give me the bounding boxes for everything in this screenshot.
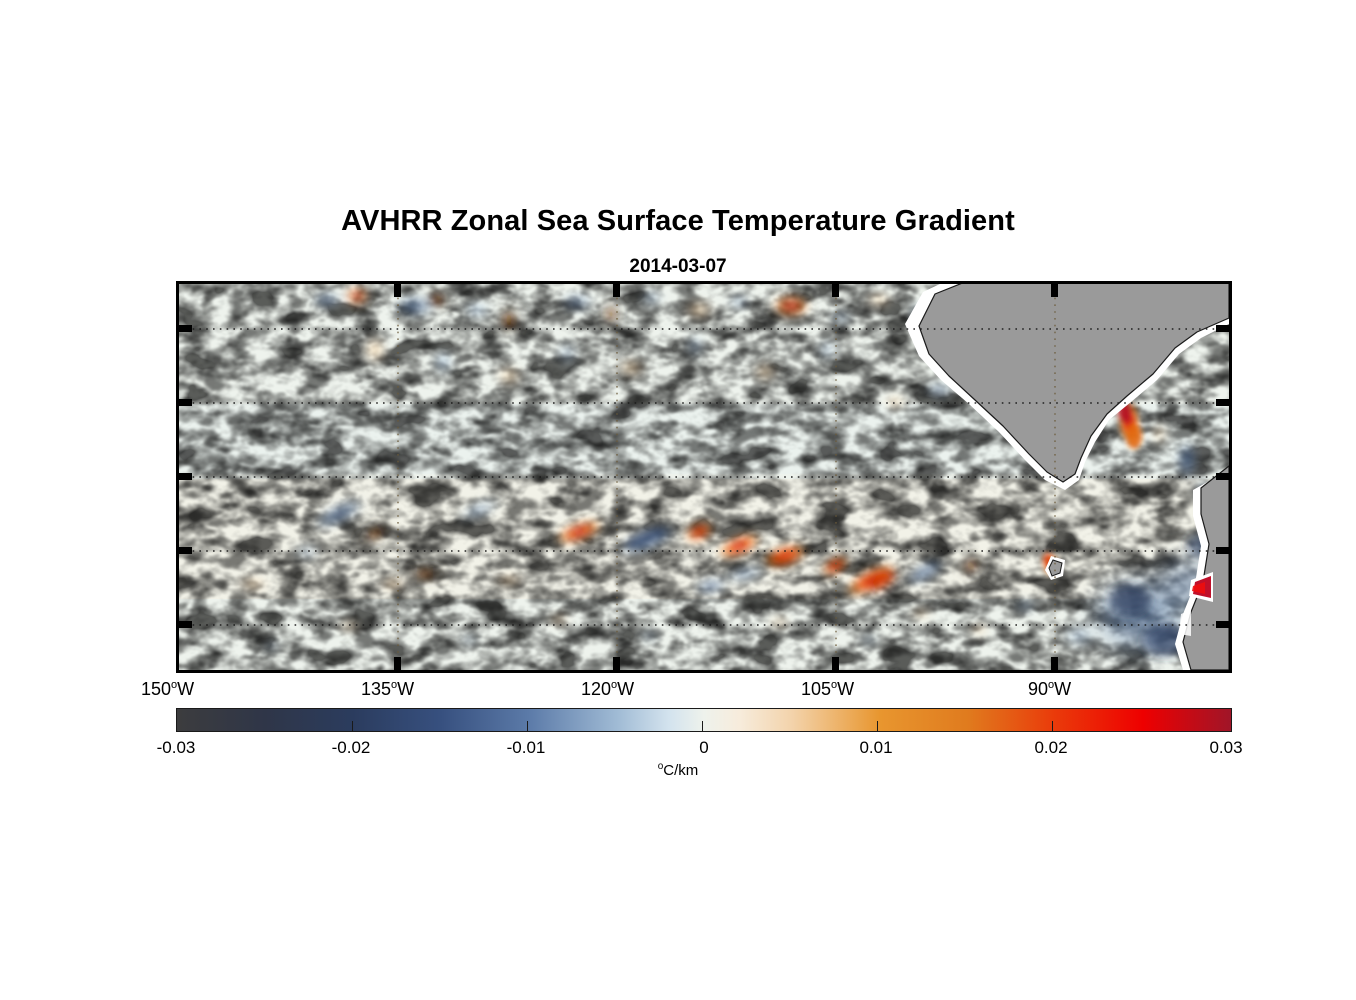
colorbar-label-min: -0.03 xyxy=(126,738,226,758)
figure-subtitle: 2014-03-07 xyxy=(0,256,1356,278)
x-axis-tick-135W: 135oW xyxy=(361,679,414,700)
x-axis-tick-120W: 120oW xyxy=(581,679,634,700)
colorbar-label-p002: 0.02 xyxy=(1001,738,1101,758)
sst-gradient-heatmap xyxy=(179,284,1229,670)
page-title: AVHRR Zonal Sea Surface Temperature Grad… xyxy=(0,205,1356,238)
map-plot-area xyxy=(176,281,1232,673)
colorbar-label-p001: 0.01 xyxy=(826,738,926,758)
colorbar-gradient xyxy=(177,709,1231,731)
colorbar-label-max: 0.03 xyxy=(1176,738,1276,758)
colorbar-label-n002: -0.02 xyxy=(301,738,401,758)
colorbar-tick xyxy=(1052,721,1053,732)
colorbar-label-n001: -0.01 xyxy=(476,738,576,758)
colorbar-tick xyxy=(352,721,353,732)
colorbar-units-label: oC/km xyxy=(0,761,1356,779)
colorbar-tick xyxy=(527,721,528,732)
colorbar xyxy=(176,708,1232,732)
x-axis-tick-90W: 90oW xyxy=(1028,679,1071,700)
x-axis-tick-105W: 105oW xyxy=(801,679,854,700)
colorbar-label-zero: 0 xyxy=(654,738,754,758)
colorbar-tick xyxy=(702,721,703,732)
x-axis-tick-150W: 150oW xyxy=(141,679,194,700)
colorbar-tick xyxy=(877,721,878,732)
figure-canvas: AVHRR Zonal Sea Surface Temperature Grad… xyxy=(0,0,1356,1000)
